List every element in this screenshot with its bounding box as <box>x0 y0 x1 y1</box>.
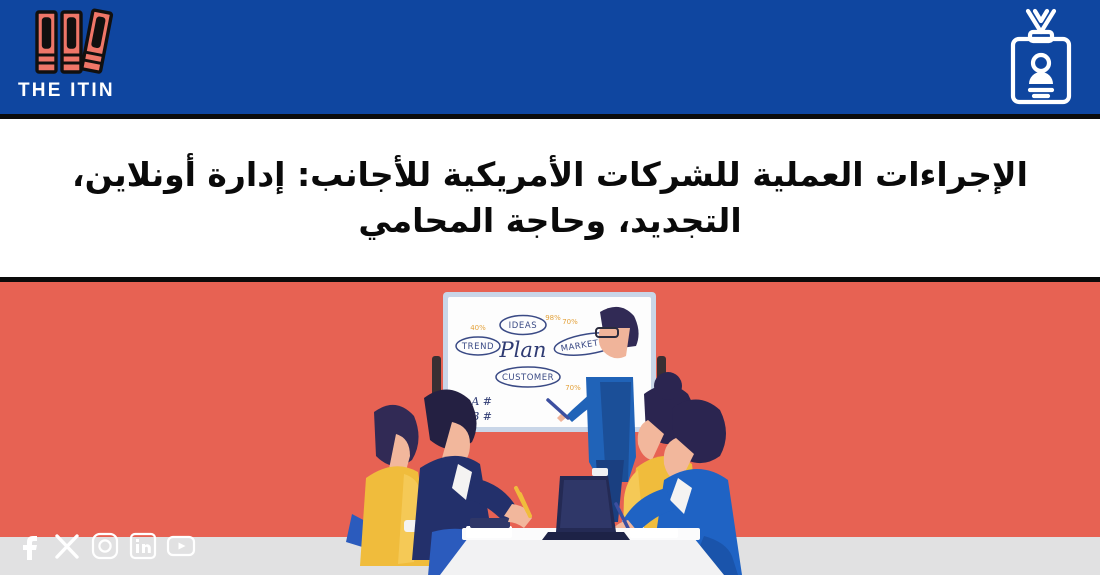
instagram-icon[interactable] <box>90 531 120 561</box>
whiteboard-bubble-trend: TREND <box>461 342 494 352</box>
woman-right-bun <box>654 372 682 400</box>
facebook-icon[interactable] <box>14 531 44 561</box>
books-icon <box>34 8 126 76</box>
linkedin-icon[interactable] <box>128 531 158 561</box>
brand-logo[interactable]: THE ITIN <box>18 6 138 110</box>
whiteboard-bubble-customer: CUSTOMER <box>502 373 554 383</box>
id-badge-icon <box>1004 8 1078 106</box>
whiteboard-percent-customer: 70% <box>565 384 581 392</box>
whiteboard-percent-marketing: 70% <box>562 318 578 326</box>
banner-root: THE ITIN الإجراءات العملية للشركات الأمر… <box>0 0 1100 575</box>
illustration-area: Plan IDEAS 98% TREND 40% MARKETING 70% C… <box>0 282 1100 575</box>
header-bar: THE ITIN <box>0 0 1100 114</box>
whiteboard-bubble-ideas: IDEAS <box>509 321 538 331</box>
youtube-icon[interactable] <box>166 531 196 561</box>
whiteboard-percent-trend: 40% <box>470 324 486 332</box>
title-band: الإجراءات العملية للشركات الأمريكية للأج… <box>0 119 1100 277</box>
social-links[interactable] <box>14 531 196 561</box>
brand-wordmark: THE ITIN <box>18 80 138 102</box>
whiteboard-heading: Plan <box>499 338 547 362</box>
page-title: الإجراءات العملية للشركات الأمريكية للأج… <box>50 152 1050 243</box>
whiteboard-percent-ideas: 98% <box>545 314 561 322</box>
x-twitter-icon[interactable] <box>52 531 82 561</box>
